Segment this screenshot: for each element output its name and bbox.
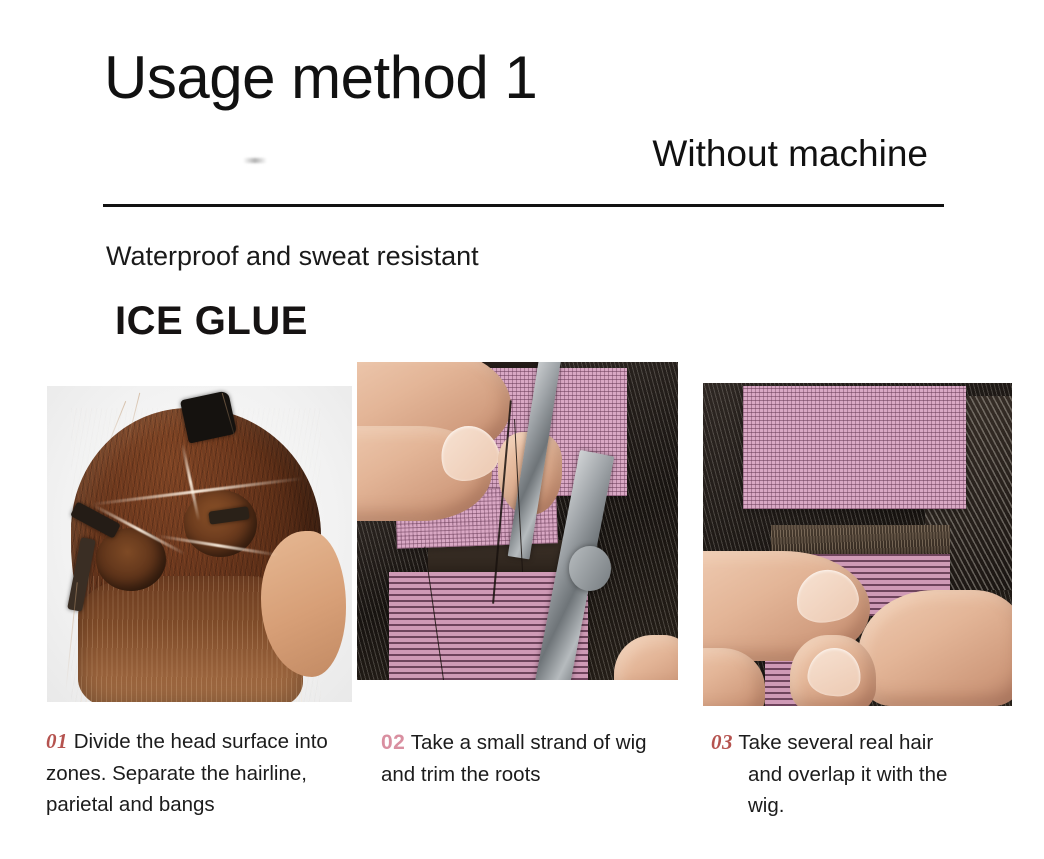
step-number-03: 03 bbox=[711, 730, 733, 754]
step-2-caption: 02 Take a small strand of wig and trim t… bbox=[381, 727, 677, 790]
step-2-photo bbox=[357, 362, 678, 680]
step-1-photo bbox=[47, 386, 352, 702]
step-1-caption: 01 Divide the head surface into zones. S… bbox=[46, 726, 364, 820]
step-number-01: 01 bbox=[46, 729, 68, 753]
brand-name: ICE GLUE bbox=[115, 299, 308, 344]
step-3-text-line3: wig. bbox=[711, 790, 1011, 821]
page-title: Usage method 1 bbox=[104, 46, 537, 109]
step-3-text-line1: Take several real hair bbox=[738, 731, 933, 754]
tagline-text: Waterproof and sweat resistant bbox=[106, 241, 479, 272]
photo-2-scene bbox=[357, 362, 678, 680]
page-subtitle: Without machine bbox=[652, 134, 928, 175]
photo-3-scene bbox=[703, 383, 1012, 706]
header-divider bbox=[103, 204, 944, 207]
scissor-pivot bbox=[569, 546, 611, 591]
smudge-artifact bbox=[243, 158, 267, 163]
step-number-02: 02 bbox=[381, 731, 405, 754]
finger-middle bbox=[858, 590, 1013, 706]
step-3-caption: 03 Take several real hairand overlap it … bbox=[711, 727, 1011, 821]
lace-mesh-strip-top bbox=[743, 386, 965, 509]
promo-page: Usage method 1 Without machine Waterproo… bbox=[0, 0, 1044, 859]
step-1-text: Divide the head surface into zones. Sepa… bbox=[46, 730, 328, 816]
photo-1-scene bbox=[47, 386, 352, 702]
step-2-text: Take a small strand of wig and trim the … bbox=[381, 731, 647, 786]
step-3-text-line2: and overlap it with the bbox=[711, 759, 1011, 790]
step-3-photo bbox=[703, 361, 1012, 706]
